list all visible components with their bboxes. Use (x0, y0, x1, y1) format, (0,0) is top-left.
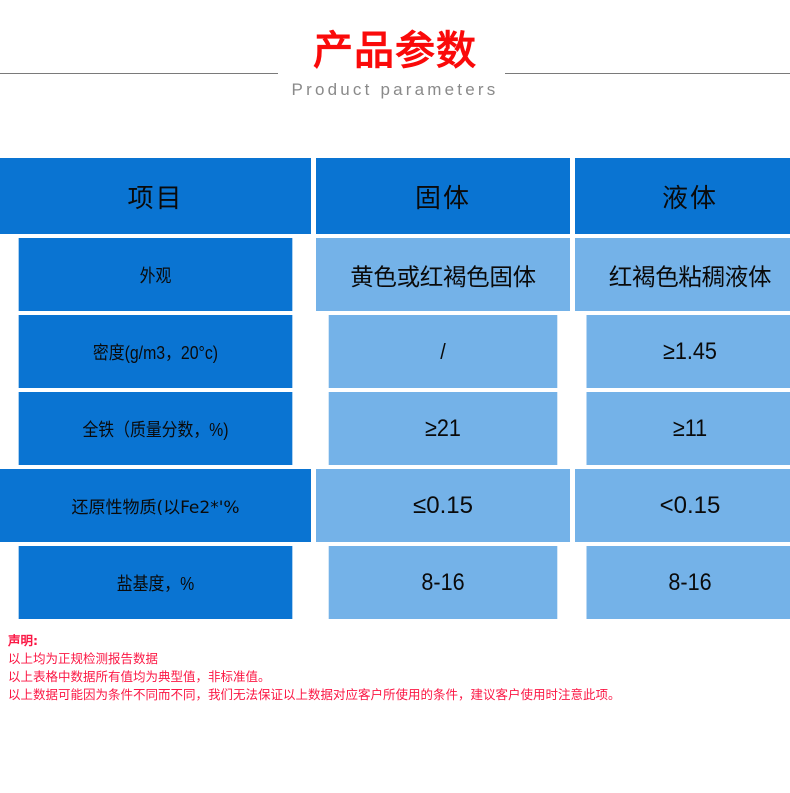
cell-density-solid: / (329, 315, 558, 388)
table-row: 还原性物质(以Fe2*'% ≤0.15 <0.15 (0, 469, 790, 542)
row-label-density: 密度(g/m3，20°c) (19, 315, 293, 388)
column-header-item: 项目 (0, 158, 311, 234)
cell-reducing-substance-solid: ≤0.15 (316, 469, 570, 542)
column-header-solid: 固体 (316, 158, 570, 234)
cell-appearance-solid: 黄色或红褐色固体 (316, 238, 570, 311)
declaration-line: 以上均为正规检测报告数据 (8, 650, 788, 668)
declaration-block: 声明: 以上均为正规检测报告数据 以上表格中数据所有值均为典型值，非标准值。 以… (8, 631, 788, 704)
row-label-basicity: 盐基度，% (19, 546, 293, 619)
cell-total-iron-liquid: ≥11 (587, 392, 790, 465)
page-title-block: 产品参数 Product parameters (0, 0, 790, 140)
page-subtitle: Product parameters (0, 79, 790, 101)
declaration-line: 以上表格中数据所有值均为典型值，非标准值。 (8, 668, 788, 686)
cell-basicity-solid: 8-16 (329, 546, 558, 619)
column-header-liquid: 液体 (575, 158, 790, 234)
row-label-appearance: 外观 (19, 238, 293, 311)
row-label-reducing-substance: 还原性物质(以Fe2*'% (0, 469, 311, 542)
declaration-heading: 声明: (8, 631, 788, 650)
cell-appearance-liquid: 红褐色粘稠液体 (575, 238, 790, 311)
cell-basicity-liquid: 8-16 (587, 546, 790, 619)
table-row: 密度(g/m3，20°c) / ≥1.45 (0, 315, 790, 388)
cell-density-liquid: ≥1.45 (587, 315, 790, 388)
page-title: 产品参数 (0, 28, 790, 74)
declaration-line: 以上数据可能因为条件不同而不同，我们无法保证以上数据对应客户所使用的条件，建议客… (8, 686, 788, 704)
cell-total-iron-solid: ≥21 (329, 392, 558, 465)
table-header-row: 项目 固体 液体 (0, 158, 790, 234)
table-row: 盐基度，% 8-16 8-16 (0, 546, 790, 619)
product-parameters-table: 项目 固体 液体 外观 黄色或红褐色固体 红褐色粘稠液体 密度(g/m3，20°… (0, 154, 790, 623)
table-row: 外观 黄色或红褐色固体 红褐色粘稠液体 (0, 238, 790, 311)
cell-reducing-substance-liquid: <0.15 (575, 469, 790, 542)
table-row: 全铁（质量分数，%) ≥21 ≥11 (0, 392, 790, 465)
row-label-total-iron: 全铁（质量分数，%) (19, 392, 293, 465)
